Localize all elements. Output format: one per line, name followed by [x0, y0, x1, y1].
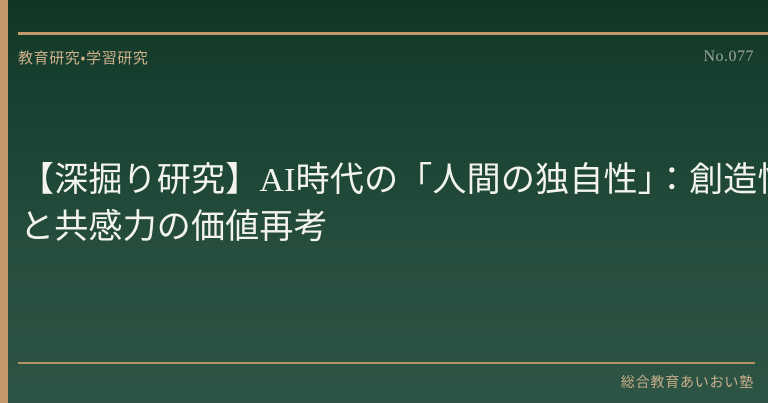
header-category-label: 教育研究・学習研究 [18, 47, 149, 68]
page-title-line-2: と共感力の価値再考 [20, 205, 768, 252]
thumbnail-card: 教育研究・学習研究 No.077 【深掘り研究】AI時代の「人間の独自性」：創造… [0, 0, 768, 403]
footer-brand-label: 総合教育あいおい塾 [621, 372, 754, 392]
header-divider-rule [18, 32, 768, 35]
page-title-line-1: 【深掘り研究】AI時代の「人間の独自性」：創造性 [20, 158, 768, 205]
page-title: 【深掘り研究】AI時代の「人間の独自性」：創造性 と共感力の価値再考 [20, 158, 768, 252]
left-accent-bar [0, 0, 8, 403]
card-footer: 総合教育あいおい塾 [621, 372, 754, 392]
header-issue-number: No.077 [703, 48, 754, 66]
card-header: 教育研究・学習研究 No.077 [18, 44, 754, 70]
footer-divider-rule [18, 362, 755, 364]
